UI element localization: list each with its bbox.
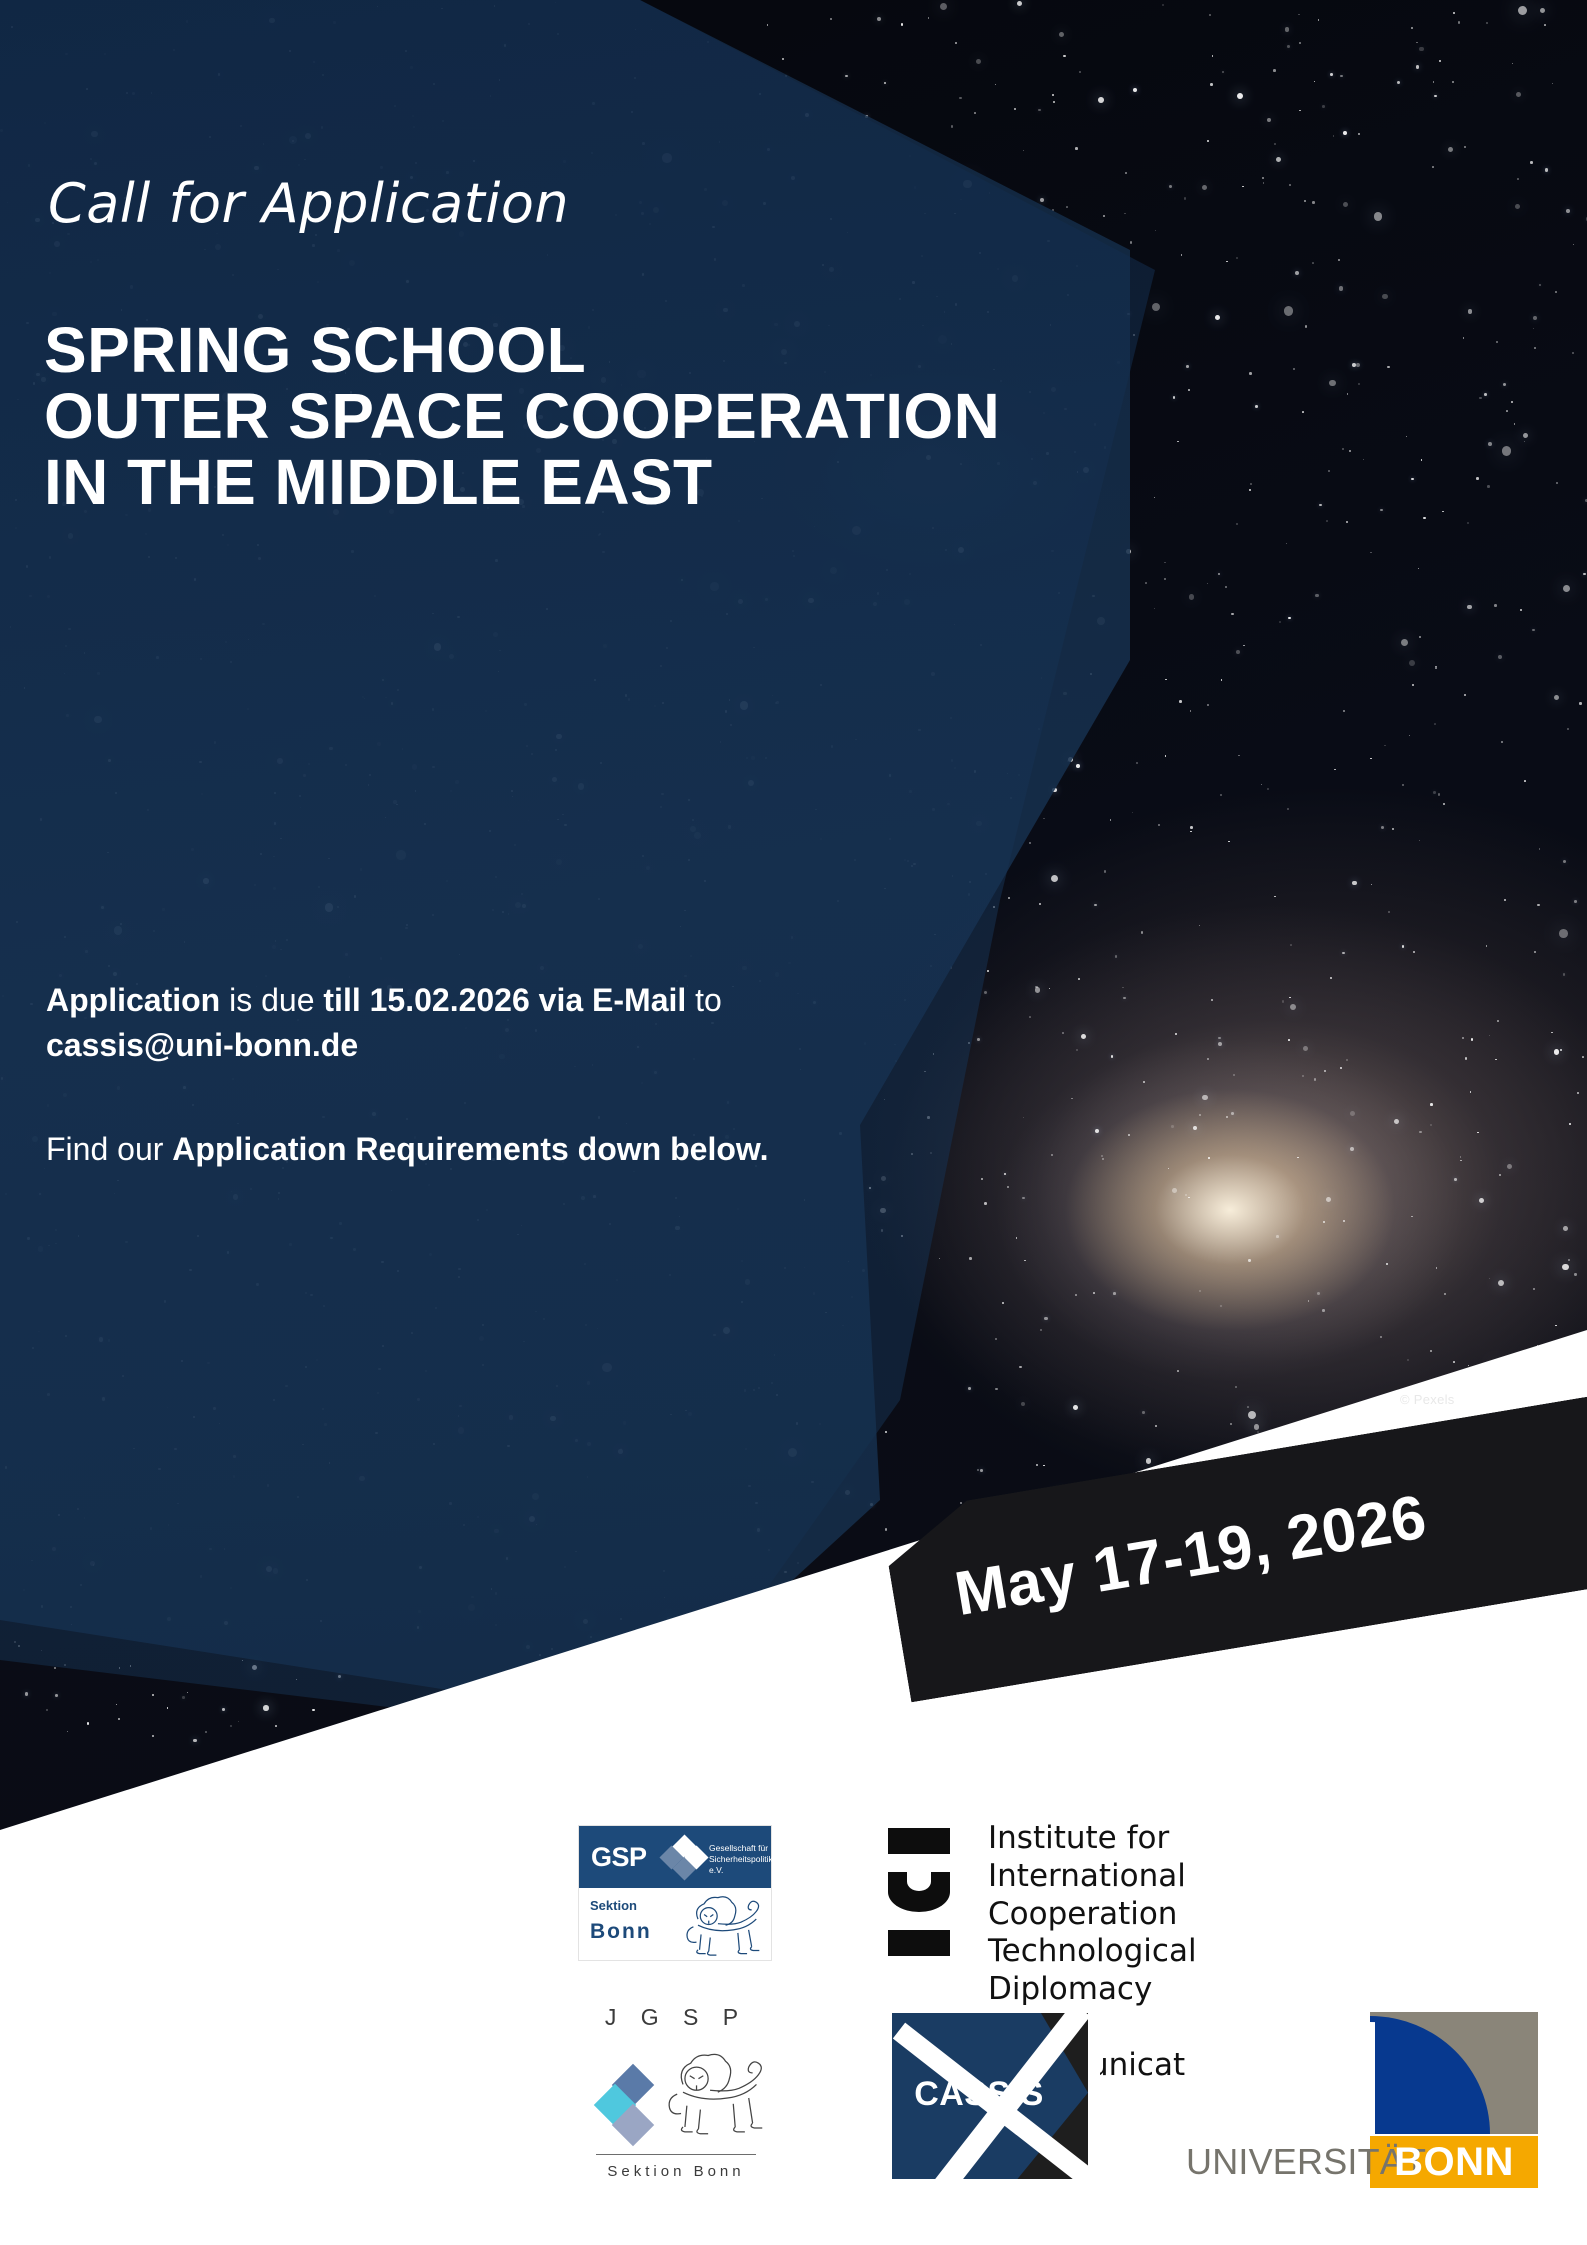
deadline-bold-date: till 15.02.2026 via E-Mail [323,982,686,1018]
gsp-header-band: GSP Gesellschaft für Sicherheitspolitik … [579,1826,771,1888]
poster-canvas: © Pexels Call for Application SPRING SCH… [0,0,1587,2245]
institute-mark-icon [888,1828,950,1956]
institute-mark-bottom-bar [888,1930,950,1956]
jgsp-divider [596,2154,756,2155]
gsp-subtitle-line-1: Gesellschaft für [709,1843,773,1854]
lion-icon [675,1896,767,1956]
requirements-paragraph: Find our Application Requirements down b… [46,1127,826,1172]
gsp-wordmark: GSP [591,1842,647,1873]
call-for-application-kicker: Call for Application [48,172,569,235]
deadline-paragraph: Application is due till 15.02.2026 via E… [46,978,826,1069]
requirements-bold: Application Requirements down below. [172,1131,768,1167]
contact-email[interactable]: cassis@uni-bonn.de [46,1027,358,1063]
cassis-mark: CASSIS [892,2013,1088,2179]
gsp-subtitle: Gesellschaft für Sicherheitspolitik e.V. [709,1843,773,1876]
uni-bonn-universitaet-word: UNIVERSITÄT [1186,2136,1376,2188]
uni-bonn-white-arc [1370,2012,1520,2134]
logo-jgsp: J G S P Sektion Bonn [576,1998,776,2198]
gsp-subtitle-line-2: Sicherheitspolitik e.V. [709,1854,773,1876]
requirements-plain: Find our [46,1131,172,1167]
partner-logos: GSP Gesellschaft für Sicherheitspolitik … [0,1800,1587,2245]
logo-gsp: GSP Gesellschaft für Sicherheitspolitik … [578,1825,772,1961]
cassis-wordmark: CASSIS [892,2075,1066,2114]
title-line-3: IN THE MIDDLE EAST [44,450,1000,516]
lion-icon [654,2050,770,2146]
deadline-plain-2: to [686,982,722,1018]
institute-mark-top-bar [888,1828,950,1854]
body-copy: Application is due till 15.02.2026 via E… [46,978,826,1230]
gsp-section-band: Sektion Bonn [579,1888,771,1960]
logo-uni-bonn: UNIVERSITÄT BONN [1186,2012,1546,2202]
gsp-section-city: Bonn [590,1920,652,1944]
gsp-section-label: Sektion [590,1898,637,1913]
jgsp-section-label: Sektion Bonn [576,2163,776,2180]
uni-bonn-bonn-word: BONN [1370,2136,1538,2188]
gsp-diamond-icon [663,1838,705,1878]
image-credit: © Pexels [1400,1392,1455,1407]
title-line-1: SPRING SCHOOL [44,318,1000,384]
institute-line-2: International Cooperation [988,1858,1232,1934]
jgsp-diamond-icon [600,2070,662,2140]
page-title: SPRING SCHOOL OUTER SPACE COOPERATION IN… [44,318,1000,516]
deadline-plain-1: is due [220,982,323,1018]
institute-line-1: Institute for [988,1820,1232,1858]
jgsp-wordmark: J G S P [576,2004,776,2031]
institute-line-3: Technological Diplomacy [988,1933,1232,2009]
uni-bonn-mark-icon [1370,2012,1538,2134]
deadline-bold-application: Application [46,982,220,1018]
logo-cassis: CASSIS [880,2005,1100,2187]
title-line-2: OUTER SPACE COOPERATION [44,384,1000,450]
institute-mark-arc [888,1872,950,1912]
